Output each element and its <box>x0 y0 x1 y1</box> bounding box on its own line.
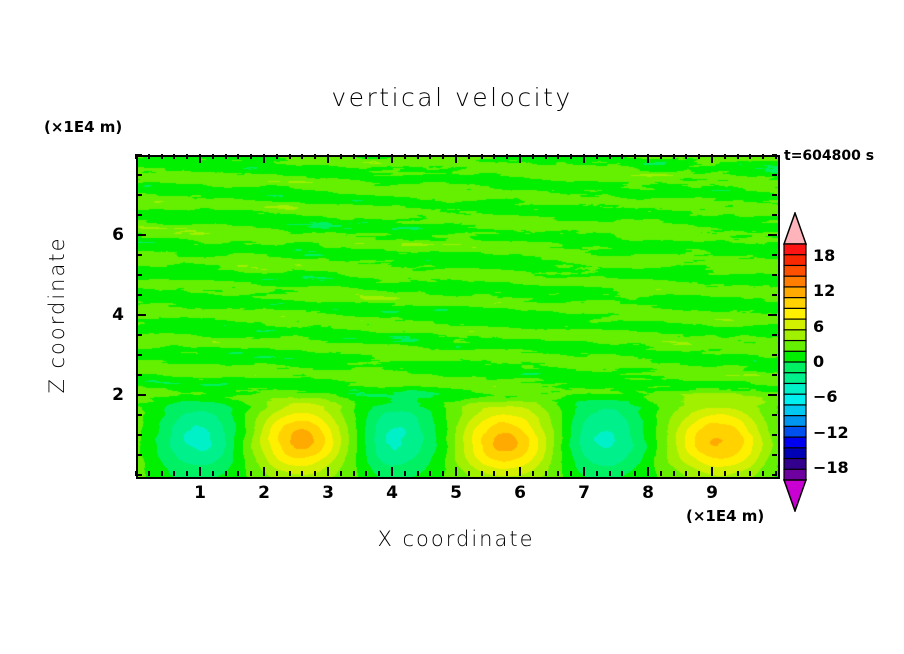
z-tick-minor <box>137 174 142 176</box>
x-tick-minor <box>314 471 316 476</box>
z-tick-minor <box>137 254 142 256</box>
x-tick-minor-top <box>314 154 316 159</box>
x-tick-major-top <box>391 154 393 163</box>
x-tick-minor <box>148 471 150 476</box>
x-tick-minor <box>468 471 470 476</box>
x-tick-minor-top <box>570 154 572 159</box>
z-tick-minor <box>137 334 142 336</box>
x-tick-minor <box>621 471 623 476</box>
colorbar-tick-label: −12 <box>813 423 849 442</box>
z-tick-major-right <box>768 394 777 396</box>
x-tick-minor <box>365 471 367 476</box>
colorbar-band <box>784 362 806 373</box>
z-tick-minor-right <box>772 254 777 256</box>
colorbar-tick-label: 6 <box>813 317 824 336</box>
colorbar-band <box>784 265 806 276</box>
x-tick-minor-top <box>468 154 470 159</box>
x-tick-minor-top <box>161 154 163 159</box>
z-tick-minor <box>137 414 142 416</box>
x-tick-minor-top <box>673 154 675 159</box>
x-tick-minor-top <box>429 154 431 159</box>
x-tick-minor-top <box>353 154 355 159</box>
z-tick-minor-right <box>772 474 777 476</box>
x-tick-minor-top <box>762 154 764 159</box>
colorbar-band <box>784 298 806 309</box>
x-tick-minor <box>749 471 751 476</box>
x-tick-major <box>263 467 265 476</box>
colorbar-band <box>784 244 806 255</box>
z-tick-minor-right <box>772 214 777 216</box>
x-tick-minor-top <box>442 154 444 159</box>
colorbar-extend-bottom <box>784 480 806 511</box>
colorbar-tick-label: −6 <box>813 387 838 406</box>
x-tick-minor-top <box>365 154 367 159</box>
colorbar-tick-label: −18 <box>813 458 849 477</box>
colorbar-band <box>784 308 806 319</box>
x-tick-label: 3 <box>313 483 343 503</box>
colorbar-band <box>784 437 806 448</box>
x-tick-minor <box>493 471 495 476</box>
colorbar-band <box>784 276 806 287</box>
x-tick-major-top <box>327 154 329 163</box>
colorbar-band <box>784 405 806 416</box>
x-tick-minor-top <box>173 154 175 159</box>
z-tick-minor-right <box>772 374 777 376</box>
x-tick-minor <box>673 471 675 476</box>
z-tick-minor <box>137 354 142 356</box>
z-tick-minor <box>137 274 142 276</box>
x-tick-minor-top <box>698 154 700 159</box>
x-tick-major <box>647 467 649 476</box>
z-tick-label: 6 <box>94 225 124 245</box>
vertical-velocity-field <box>138 157 778 477</box>
colorbar-tick-label: 18 <box>813 246 835 265</box>
z-tick-label: 2 <box>94 385 124 405</box>
x-axis-unit-label: (×1E4 m) <box>686 507 764 525</box>
x-tick-minor <box>353 471 355 476</box>
x-tick-minor <box>404 471 406 476</box>
x-tick-label: 7 <box>569 483 599 503</box>
x-tick-minor-top <box>404 154 406 159</box>
x-tick-minor <box>340 471 342 476</box>
x-tick-minor <box>237 471 239 476</box>
colorbar-band <box>784 448 806 459</box>
x-tick-minor-top <box>340 154 342 159</box>
z-tick-major <box>137 314 146 316</box>
x-tick-minor <box>698 471 700 476</box>
x-tick-major <box>519 467 521 476</box>
x-tick-minor <box>506 471 508 476</box>
x-tick-minor-top <box>506 154 508 159</box>
x-tick-minor <box>225 471 227 476</box>
x-tick-minor-top <box>545 154 547 159</box>
z-tick-minor <box>137 214 142 216</box>
x-tick-major <box>455 467 457 476</box>
colorbar-band <box>784 416 806 427</box>
colorbar-band <box>784 394 806 405</box>
z-tick-minor-right <box>772 274 777 276</box>
x-tick-major <box>583 467 585 476</box>
z-tick-major <box>137 234 146 236</box>
z-tick-minor <box>137 154 142 156</box>
timestamp-annotation: t=604800 s <box>784 148 874 164</box>
x-tick-minor <box>724 471 726 476</box>
x-tick-minor-top <box>186 154 188 159</box>
colorbar-band <box>784 351 806 362</box>
x-tick-minor <box>596 471 598 476</box>
x-tick-minor-top <box>225 154 227 159</box>
colorbar-band <box>784 373 806 384</box>
x-tick-minor <box>276 471 278 476</box>
x-tick-minor <box>161 471 163 476</box>
z-tick-major-right <box>768 234 777 236</box>
x-tick-major-top <box>455 154 457 163</box>
x-tick-minor <box>634 471 636 476</box>
x-tick-minor-top <box>634 154 636 159</box>
z-tick-minor-right <box>772 354 777 356</box>
x-tick-minor-top <box>148 154 150 159</box>
z-tick-minor <box>137 194 142 196</box>
x-tick-minor <box>289 471 291 476</box>
z-tick-minor <box>137 374 142 376</box>
colorbar <box>783 212 807 512</box>
x-tick-minor-top <box>724 154 726 159</box>
x-tick-minor <box>250 471 252 476</box>
z-tick-minor-right <box>772 334 777 336</box>
x-tick-minor <box>173 471 175 476</box>
y-axis-unit-label: (×1E4 m) <box>44 118 122 136</box>
x-tick-minor-top <box>596 154 598 159</box>
y-axis-title: Z coordinate <box>45 200 69 430</box>
x-tick-major-top <box>647 154 649 163</box>
x-tick-minor-top <box>621 154 623 159</box>
x-tick-minor-top <box>493 154 495 159</box>
colorbar-tick-label: 12 <box>813 281 835 300</box>
x-tick-minor <box>212 471 214 476</box>
x-tick-label: 2 <box>249 483 279 503</box>
x-tick-minor-top <box>237 154 239 159</box>
colorbar-extend-top <box>784 213 806 244</box>
colorbar-band <box>784 383 806 394</box>
x-tick-major-top <box>263 154 265 163</box>
chart-title: vertical velocity <box>0 83 904 112</box>
z-tick-label: 4 <box>94 305 124 325</box>
colorbar-band <box>784 255 806 266</box>
x-tick-label: 9 <box>697 483 727 503</box>
z-tick-minor-right <box>772 414 777 416</box>
x-tick-major-top <box>519 154 521 163</box>
z-tick-minor-right <box>772 294 777 296</box>
z-tick-minor-right <box>772 174 777 176</box>
x-tick-major <box>199 467 201 476</box>
x-tick-minor <box>609 471 611 476</box>
x-tick-minor-top <box>557 154 559 159</box>
x-tick-minor-top <box>685 154 687 159</box>
z-tick-minor <box>137 474 142 476</box>
contour-plot-area <box>136 155 780 479</box>
z-tick-minor <box>137 454 142 456</box>
x-tick-minor-top <box>609 154 611 159</box>
colorbar-band <box>784 319 806 330</box>
z-tick-minor-right <box>772 454 777 456</box>
x-tick-minor-top <box>660 154 662 159</box>
colorbar-band <box>784 287 806 298</box>
x-tick-major-top <box>711 154 713 163</box>
colorbar-band <box>784 459 806 470</box>
x-tick-minor <box>762 471 764 476</box>
x-axis-title: X coordinate <box>136 527 776 551</box>
colorbar-band <box>784 426 806 437</box>
figure-root: vertical velocity (×1E4 m) (×1E4 m) Z co… <box>0 0 904 654</box>
x-tick-label: 4 <box>377 483 407 503</box>
x-tick-label: 8 <box>633 483 663 503</box>
x-tick-minor <box>660 471 662 476</box>
x-tick-major <box>391 467 393 476</box>
z-tick-minor-right <box>772 154 777 156</box>
x-tick-label: 5 <box>441 483 471 503</box>
x-tick-minor-top <box>212 154 214 159</box>
x-tick-minor-top <box>737 154 739 159</box>
x-tick-minor <box>301 471 303 476</box>
colorbar-tick-label: 0 <box>813 352 824 371</box>
x-tick-minor-top <box>301 154 303 159</box>
x-tick-label: 6 <box>505 483 535 503</box>
x-tick-minor <box>429 471 431 476</box>
x-tick-minor-top <box>289 154 291 159</box>
x-tick-minor-top <box>378 154 380 159</box>
colorbar-band <box>784 469 806 480</box>
x-tick-minor <box>532 471 534 476</box>
x-tick-minor-top <box>749 154 751 159</box>
z-tick-major-right <box>768 314 777 316</box>
x-tick-minor <box>186 471 188 476</box>
x-tick-minor-top <box>532 154 534 159</box>
x-tick-minor <box>378 471 380 476</box>
x-tick-minor <box>570 471 572 476</box>
x-tick-minor <box>685 471 687 476</box>
x-tick-major-top <box>583 154 585 163</box>
z-tick-minor-right <box>772 434 777 436</box>
x-tick-minor-top <box>276 154 278 159</box>
x-tick-major <box>327 467 329 476</box>
x-tick-major-top <box>199 154 201 163</box>
z-tick-major <box>137 394 146 396</box>
z-tick-minor <box>137 434 142 436</box>
x-tick-minor <box>417 471 419 476</box>
z-tick-minor-right <box>772 194 777 196</box>
x-tick-minor-top <box>481 154 483 159</box>
x-tick-minor <box>557 471 559 476</box>
x-tick-minor <box>545 471 547 476</box>
colorbar-band <box>784 341 806 352</box>
x-tick-minor <box>737 471 739 476</box>
x-tick-label: 1 <box>185 483 215 503</box>
x-tick-minor <box>481 471 483 476</box>
colorbar-band <box>784 330 806 341</box>
x-tick-minor <box>442 471 444 476</box>
x-tick-major <box>711 467 713 476</box>
x-tick-minor-top <box>417 154 419 159</box>
colorbar-swatches <box>783 212 807 512</box>
x-tick-minor-top <box>250 154 252 159</box>
z-tick-minor <box>137 294 142 296</box>
